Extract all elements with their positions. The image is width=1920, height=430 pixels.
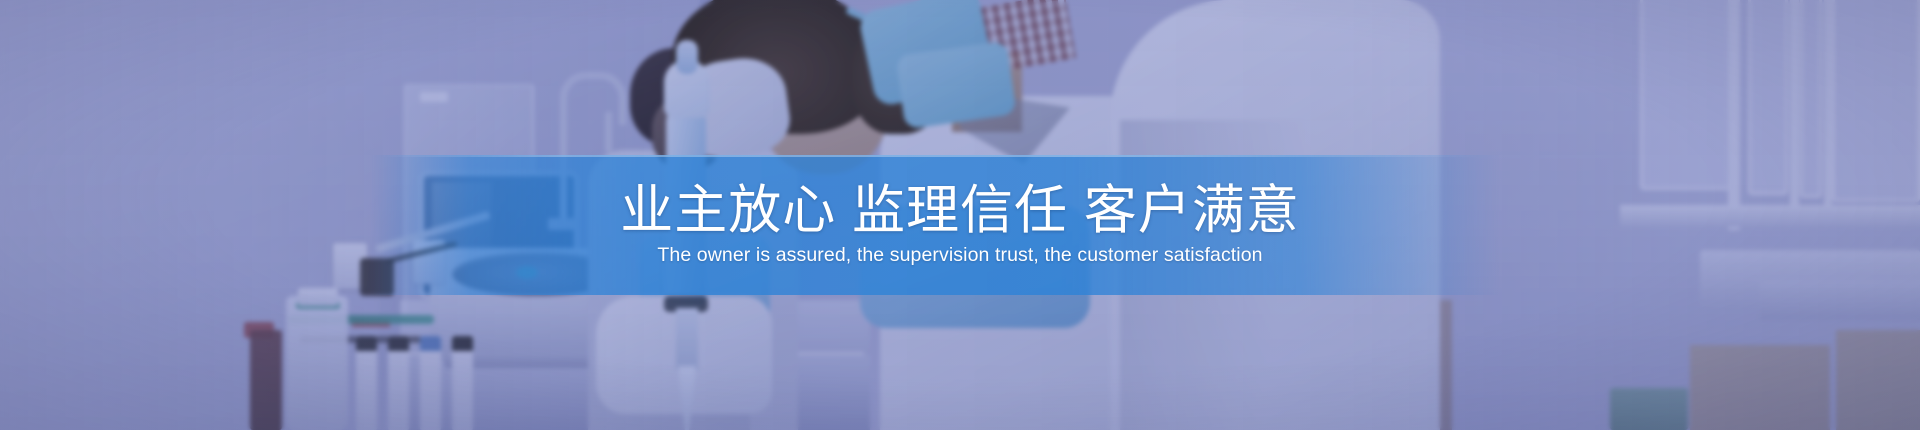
banner-subline: The owner is assured, the supervision tr… — [657, 244, 1262, 267]
banner-headline: 业主放心 监理信任 客户满意 — [620, 183, 1299, 238]
caption-block: 业主放心 监理信任 客户满意 The owner is assured, the… — [0, 155, 1920, 295]
hero-banner: 业主放心 监理信任 客户满意 The owner is assured, the… — [0, 0, 1920, 430]
